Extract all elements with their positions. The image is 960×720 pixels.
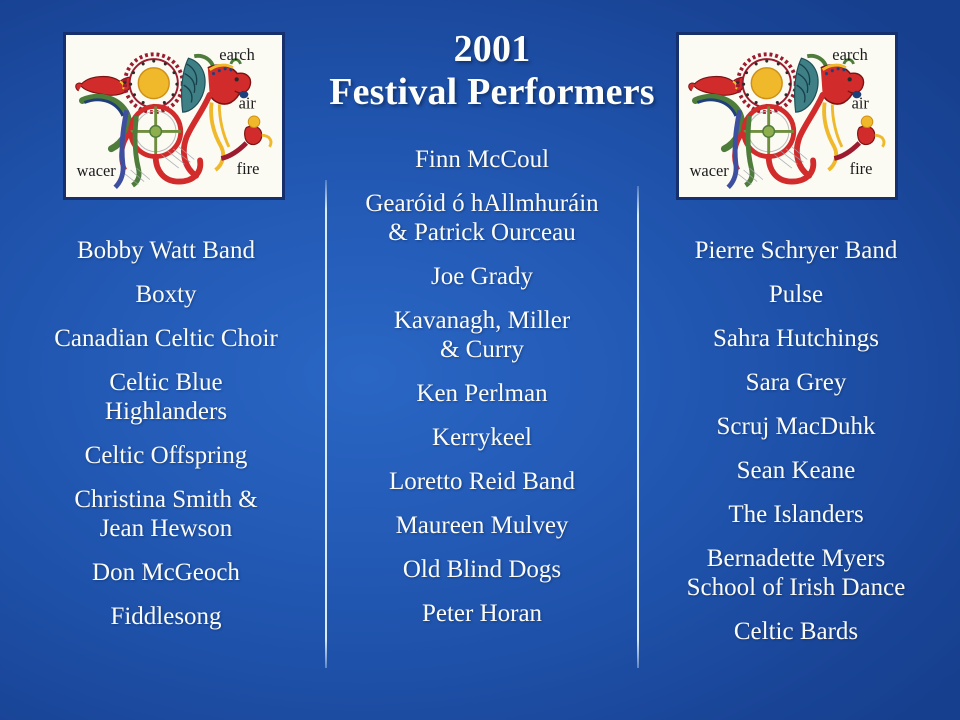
logo-word-fire: fire [237, 159, 260, 178]
performer-name-line1: Finn McCoul [415, 146, 549, 173]
performer-item: Kavanagh, Miller& Curry [336, 306, 628, 364]
performer-item: The Islanders [648, 500, 944, 529]
performer-name-line1: Celtic Blue [109, 369, 222, 396]
performer-item: Joe Grady [336, 262, 628, 291]
logo-word-water: wacer [77, 161, 117, 180]
performer-name-line1: Maureen Mulvey [396, 512, 569, 539]
performer-item: Sara Grey [648, 368, 944, 397]
performer-name-line1: Celtic Bards [734, 618, 858, 645]
performer-name-line1: Pulse [769, 281, 823, 308]
performer-column-right: Pierre Schryer BandPulseSahra HutchingsS… [648, 236, 944, 646]
celtic-logo-artwork: earch air fire wacer [66, 35, 282, 197]
performer-name-line1: Bobby Watt Band [77, 237, 255, 264]
performer-name-line2: Highlanders [18, 397, 314, 426]
performer-item: Loretto Reid Band [336, 467, 628, 496]
performer-item: Pulse [648, 280, 944, 309]
performer-name-line1: Fiddlesong [110, 603, 221, 630]
column-divider-right [637, 186, 639, 668]
performer-item: Celtic Offspring [18, 441, 314, 470]
performer-name-line1: Celtic Offspring [85, 442, 248, 469]
celtic-logo-right: earch air fire wacer [676, 32, 898, 200]
slide-title: 2001 Festival Performers [322, 28, 662, 115]
performer-name-line1: Sahra Hutchings [713, 325, 879, 352]
performer-name-line1: Loretto Reid Band [389, 468, 575, 495]
performer-name-line2: Jean Hewson [18, 514, 314, 543]
logo-word-fire: fire [850, 159, 873, 178]
performer-name-line1: Scruj MacDuhk [717, 413, 876, 440]
performer-column-left: Bobby Watt BandBoxtyCanadian Celtic Choi… [18, 236, 314, 631]
column-divider-left [325, 180, 327, 668]
performer-item: Gearóid ó hAllmhuráin& Patrick Ourceau [336, 189, 628, 247]
performer-name-line1: Peter Horan [422, 600, 542, 627]
logo-word-air: air [239, 93, 257, 112]
performer-item: Christina Smith &Jean Hewson [18, 485, 314, 543]
celtic-logo-artwork: earch air fire wacer [679, 35, 895, 197]
presentation-slide: earch air fire wacer [0, 0, 960, 720]
performer-item: Finn McCoul [336, 145, 628, 174]
performer-name-line1: Kerrykeel [432, 424, 532, 451]
performer-item: Maureen Mulvey [336, 511, 628, 540]
performer-item: Bobby Watt Band [18, 236, 314, 265]
performer-name-line2: & Curry [336, 335, 628, 364]
performer-column-center: Finn McCoulGearóid ó hAllmhuráin& Patric… [336, 145, 628, 628]
performer-name-line2: & Patrick Ourceau [336, 218, 628, 247]
logo-word-air: air [852, 93, 870, 112]
title-year: 2001 [454, 28, 531, 70]
performer-name-line1: The Islanders [728, 501, 863, 528]
performer-name-line1: Don McGeoch [92, 559, 240, 586]
performer-name-line1: Pierre Schryer Band [695, 237, 898, 264]
performer-item: Celtic Bards [648, 617, 944, 646]
title-subtitle: Festival Performers [322, 71, 662, 114]
performer-name-line1: Joe Grady [431, 263, 533, 290]
performer-item: Sean Keane [648, 456, 944, 485]
performer-item: Bernadette MyersSchool of Irish Dance [648, 544, 944, 602]
performer-name-line1: Old Blind Dogs [403, 556, 561, 583]
performer-item: Don McGeoch [18, 558, 314, 587]
performer-name-line1: Kavanagh, Miller [394, 307, 570, 334]
performer-name-line1: Canadian Celtic Choir [54, 325, 278, 352]
logo-word-earth: earch [832, 45, 867, 64]
performer-item: Sahra Hutchings [648, 324, 944, 353]
performer-item: Scruj MacDuhk [648, 412, 944, 441]
performer-item: Old Blind Dogs [336, 555, 628, 584]
performer-name-line1: Sean Keane [737, 457, 856, 484]
logo-word-water: wacer [690, 161, 730, 180]
performer-name-line1: Gearóid ó hAllmhuráin [365, 190, 598, 217]
performer-name-line1: Sara Grey [746, 369, 847, 396]
performer-name-line1: Ken Perlman [416, 380, 547, 407]
performer-name-line1: Christina Smith & [74, 486, 257, 513]
performer-item: Fiddlesong [18, 602, 314, 631]
performer-item: Kerrykeel [336, 423, 628, 452]
performer-name-line1: Bernadette Myers [707, 545, 885, 572]
performer-item: Peter Horan [336, 599, 628, 628]
performer-item: Celtic BlueHighlanders [18, 368, 314, 426]
performer-item: Boxty [18, 280, 314, 309]
celtic-logo-left: earch air fire wacer [63, 32, 285, 200]
performer-name-line1: Boxty [135, 281, 196, 308]
logo-word-earth: earch [219, 45, 254, 64]
performer-item: Canadian Celtic Choir [18, 324, 314, 353]
performer-name-line2: School of Irish Dance [648, 573, 944, 602]
performer-item: Pierre Schryer Band [648, 236, 944, 265]
performer-item: Ken Perlman [336, 379, 628, 408]
